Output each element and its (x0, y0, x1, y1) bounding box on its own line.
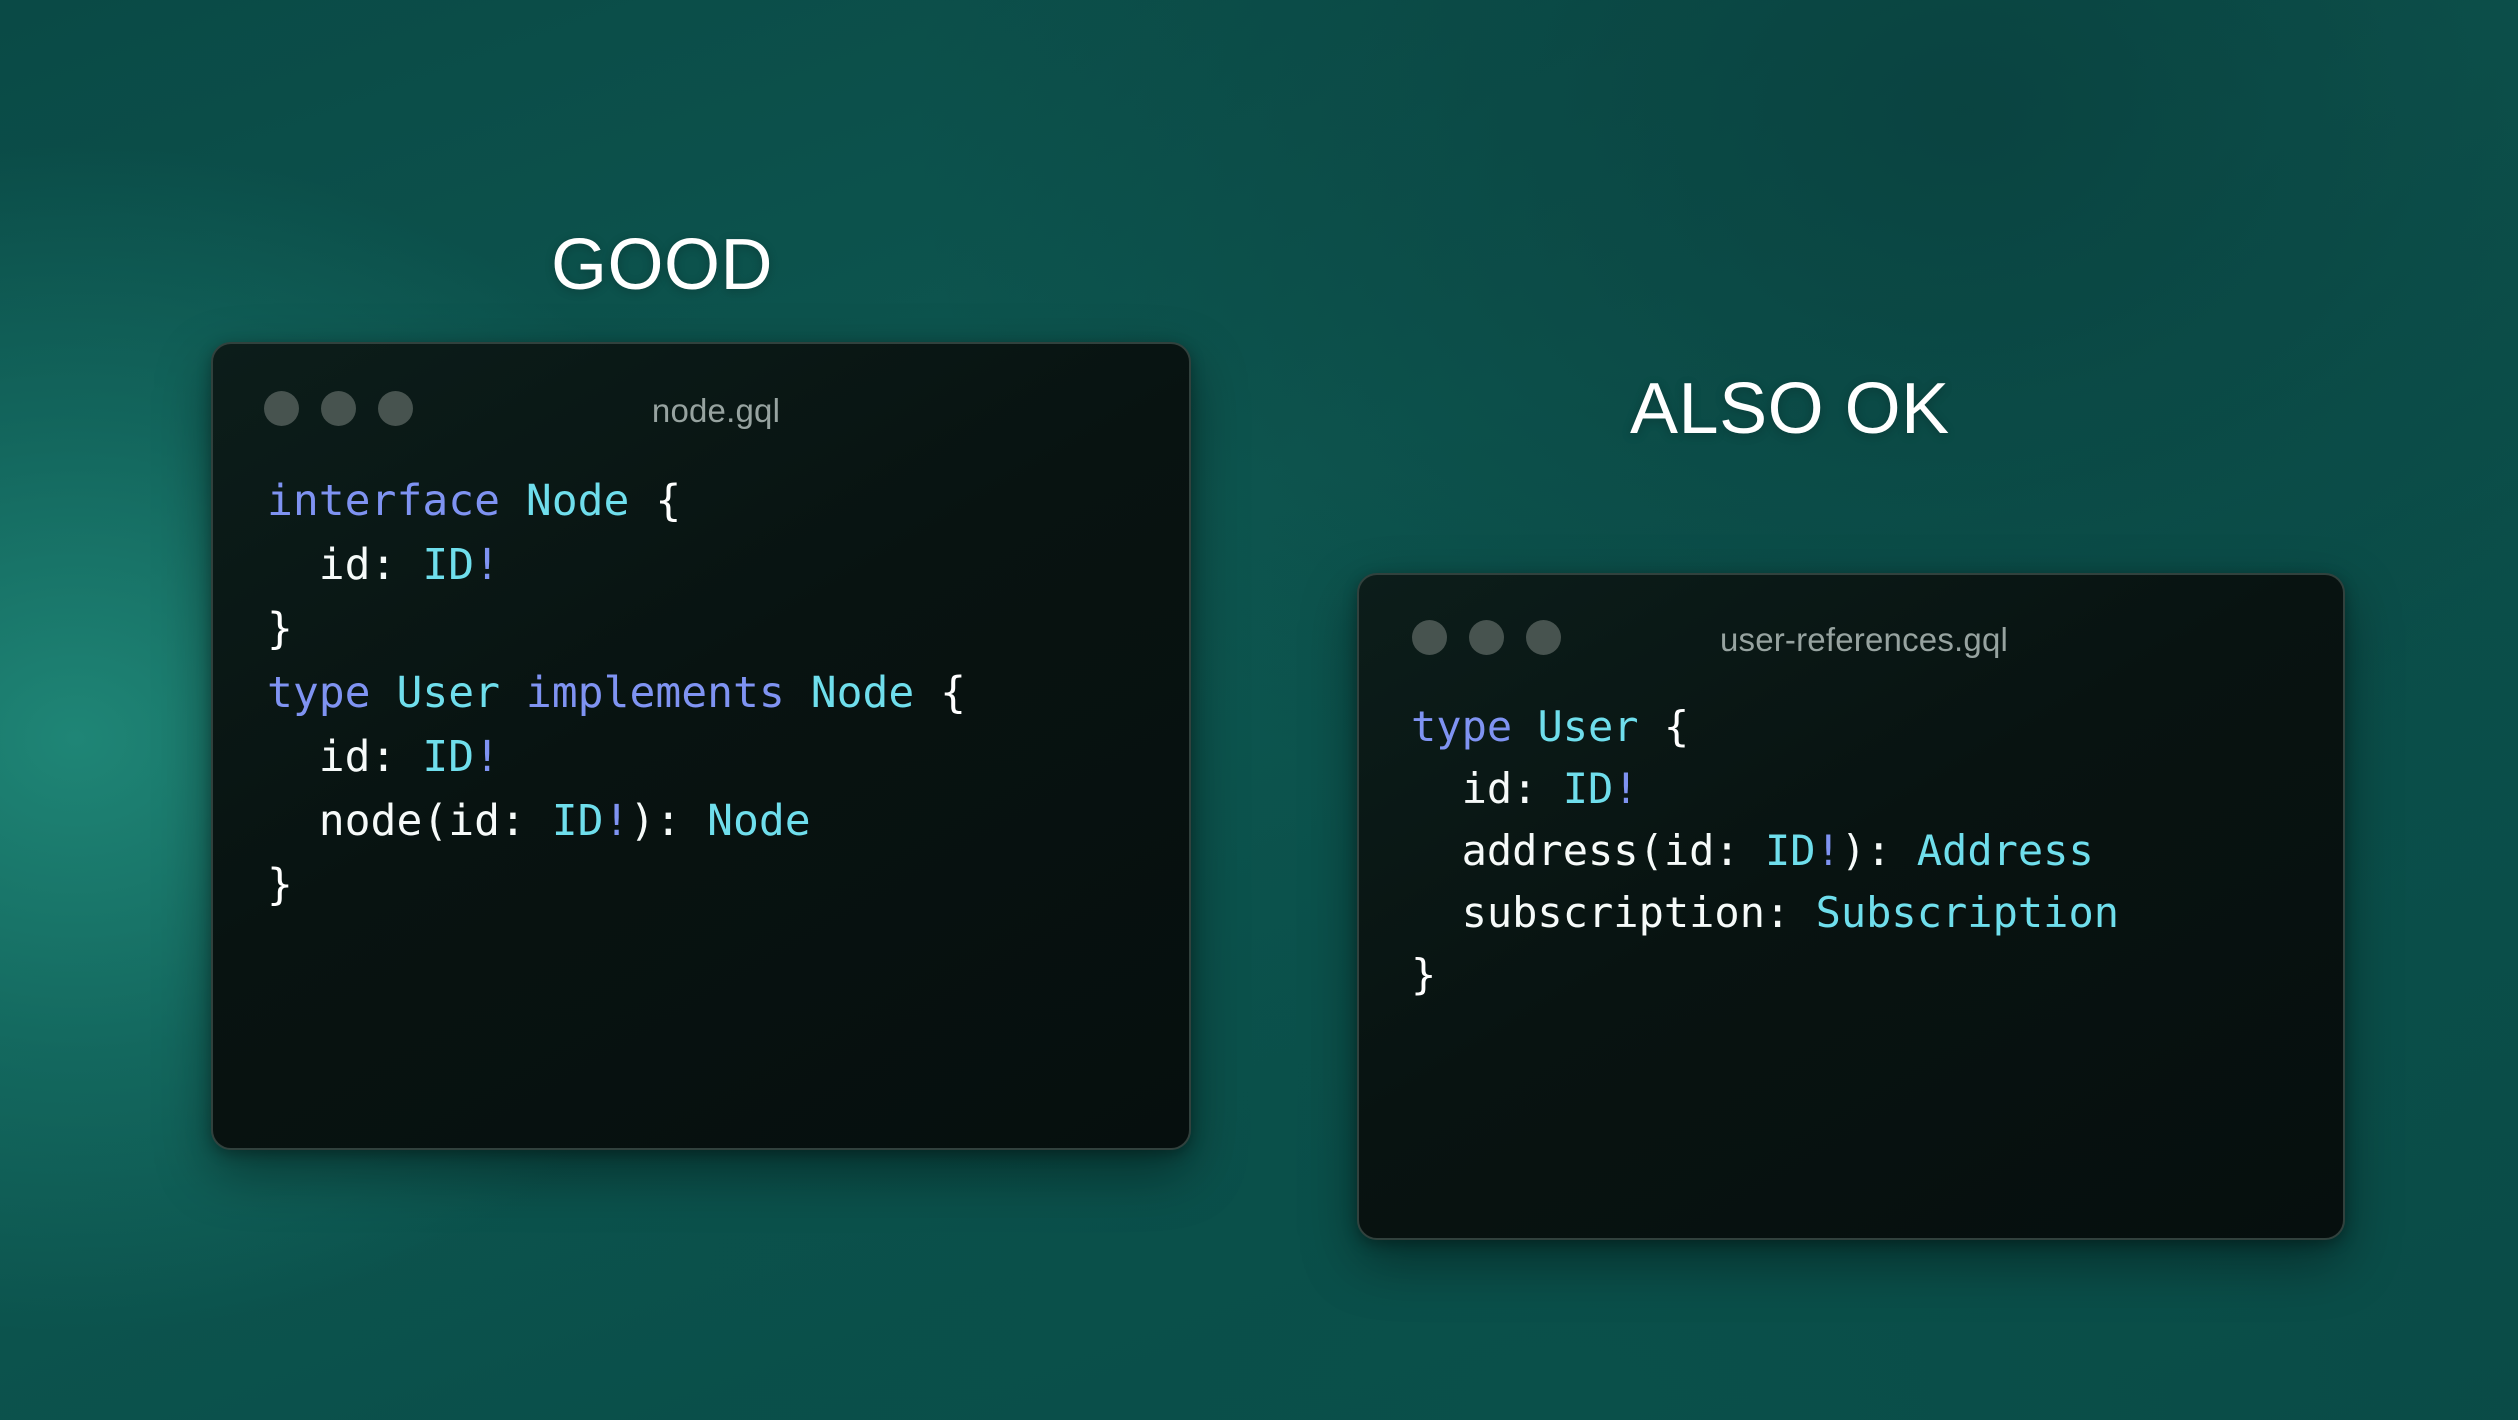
code-token-bang: ! (1613, 764, 1638, 813)
code-line: type User { (1411, 696, 2343, 758)
code-line: id: ID! (267, 725, 1189, 789)
code-token-plain: ): (1841, 826, 1917, 875)
code-line: id: ID! (267, 533, 1189, 597)
code-window-good: node.gql interface Node { id: ID!}type U… (211, 342, 1191, 1150)
code-token-punct: { (940, 668, 966, 718)
code-line: address(id: ID!): Address (1411, 820, 2343, 882)
code-token-plain: node(id: (267, 796, 552, 846)
code-line: } (1411, 944, 2343, 1006)
code-line: interface Node { (267, 469, 1189, 533)
code-token-plain (1512, 702, 1537, 751)
code-token-type: User (396, 668, 500, 718)
code-token-plain (914, 668, 940, 718)
code-token-plain (1639, 702, 1664, 751)
code-token-plain (500, 476, 526, 526)
code-token-keyword: type (267, 668, 371, 718)
panel-heading-good: GOOD (551, 229, 773, 301)
code-token-bang: ! (474, 732, 500, 782)
code-token-type: Node (526, 476, 630, 526)
code-token-type: ID (422, 540, 474, 590)
code-token-bang: ! (1816, 826, 1841, 875)
code-line: } (267, 597, 1189, 661)
code-token-type: Subscription (1816, 888, 2119, 937)
code-token-punct: { (1664, 702, 1689, 751)
code-token-plain (371, 668, 397, 718)
code-token-plain: subscription: (1411, 888, 1816, 937)
code-token-plain: id: (267, 732, 422, 782)
code-token-type: Address (1917, 826, 2094, 875)
window-titlebar: node.gql (213, 344, 1189, 450)
code-line: } (267, 853, 1189, 917)
code-block-good: interface Node { id: ID!}type User imple… (213, 450, 1189, 917)
code-token-bang: ! (604, 796, 630, 846)
window-file-title: node.gql (213, 392, 1189, 430)
code-token-plain (500, 668, 526, 718)
code-token-bang: ! (474, 540, 500, 590)
code-token-punct: } (267, 860, 293, 910)
code-token-punct: } (267, 604, 293, 654)
window-titlebar: user-references.gql (1359, 575, 2343, 679)
panel-heading-also-ok: ALSO OK (1630, 373, 1950, 445)
code-token-plain: id: (1411, 764, 1563, 813)
code-line: node(id: ID!): Node (267, 789, 1189, 853)
code-line: type User implements Node { (267, 661, 1189, 725)
code-token-plain: id: (267, 540, 422, 590)
code-token-plain: address(id: (1411, 826, 1765, 875)
code-window-also-ok: user-references.gql type User { id: ID! … (1357, 573, 2345, 1240)
code-line: subscription: Subscription (1411, 882, 2343, 944)
code-block-also-ok: type User { id: ID! address(id: ID!): Ad… (1359, 679, 2343, 1006)
code-token-type: ID (552, 796, 604, 846)
code-token-plain: ): (629, 796, 707, 846)
code-token-keyword: implements (526, 668, 785, 718)
slide-canvas: GOOD node.gql interface Node { id: ID!}t… (0, 0, 2518, 1420)
code-token-type: ID (422, 732, 474, 782)
code-token-plain (785, 668, 811, 718)
window-file-title: user-references.gql (1359, 621, 2343, 659)
code-token-punct: } (1411, 950, 1436, 999)
code-token-punct: { (655, 476, 681, 526)
code-token-keyword: interface (267, 476, 500, 526)
code-token-plain (629, 476, 655, 526)
code-token-type: ID (1563, 764, 1614, 813)
code-token-type: User (1537, 702, 1638, 751)
code-token-type: Node (811, 668, 915, 718)
code-line: id: ID! (1411, 758, 2343, 820)
code-token-type: Node (707, 796, 811, 846)
code-token-keyword: type (1411, 702, 1512, 751)
code-token-type: ID (1765, 826, 1816, 875)
